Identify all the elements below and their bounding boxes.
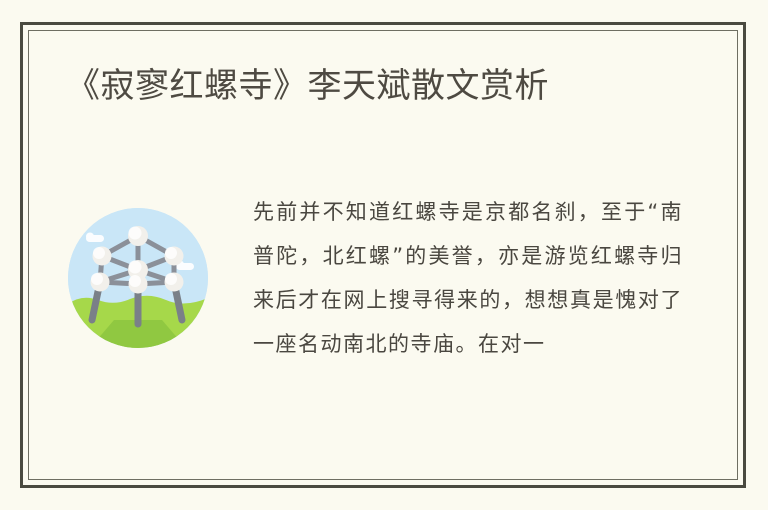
atomium-monument-icon — [68, 208, 208, 348]
article-card: 《寂寥红螺寺》李天斌散文赏析 — [0, 0, 768, 510]
page-title: 《寂寥红螺寺》李天斌散文赏析 — [40, 63, 549, 109]
title-container: 《寂寥红螺寺》李天斌散文赏析 — [40, 46, 730, 126]
article-paragraph: 先前并不知道红螺寺是京都名刹，至于“南普陀，北红螺”的美誉，亦是游览红螺寺归来后… — [253, 190, 693, 366]
content-row: 先前并不知道红螺寺是京都名刹，至于“南普陀，北红螺”的美誉，亦是游览红螺寺归来后… — [40, 190, 730, 460]
